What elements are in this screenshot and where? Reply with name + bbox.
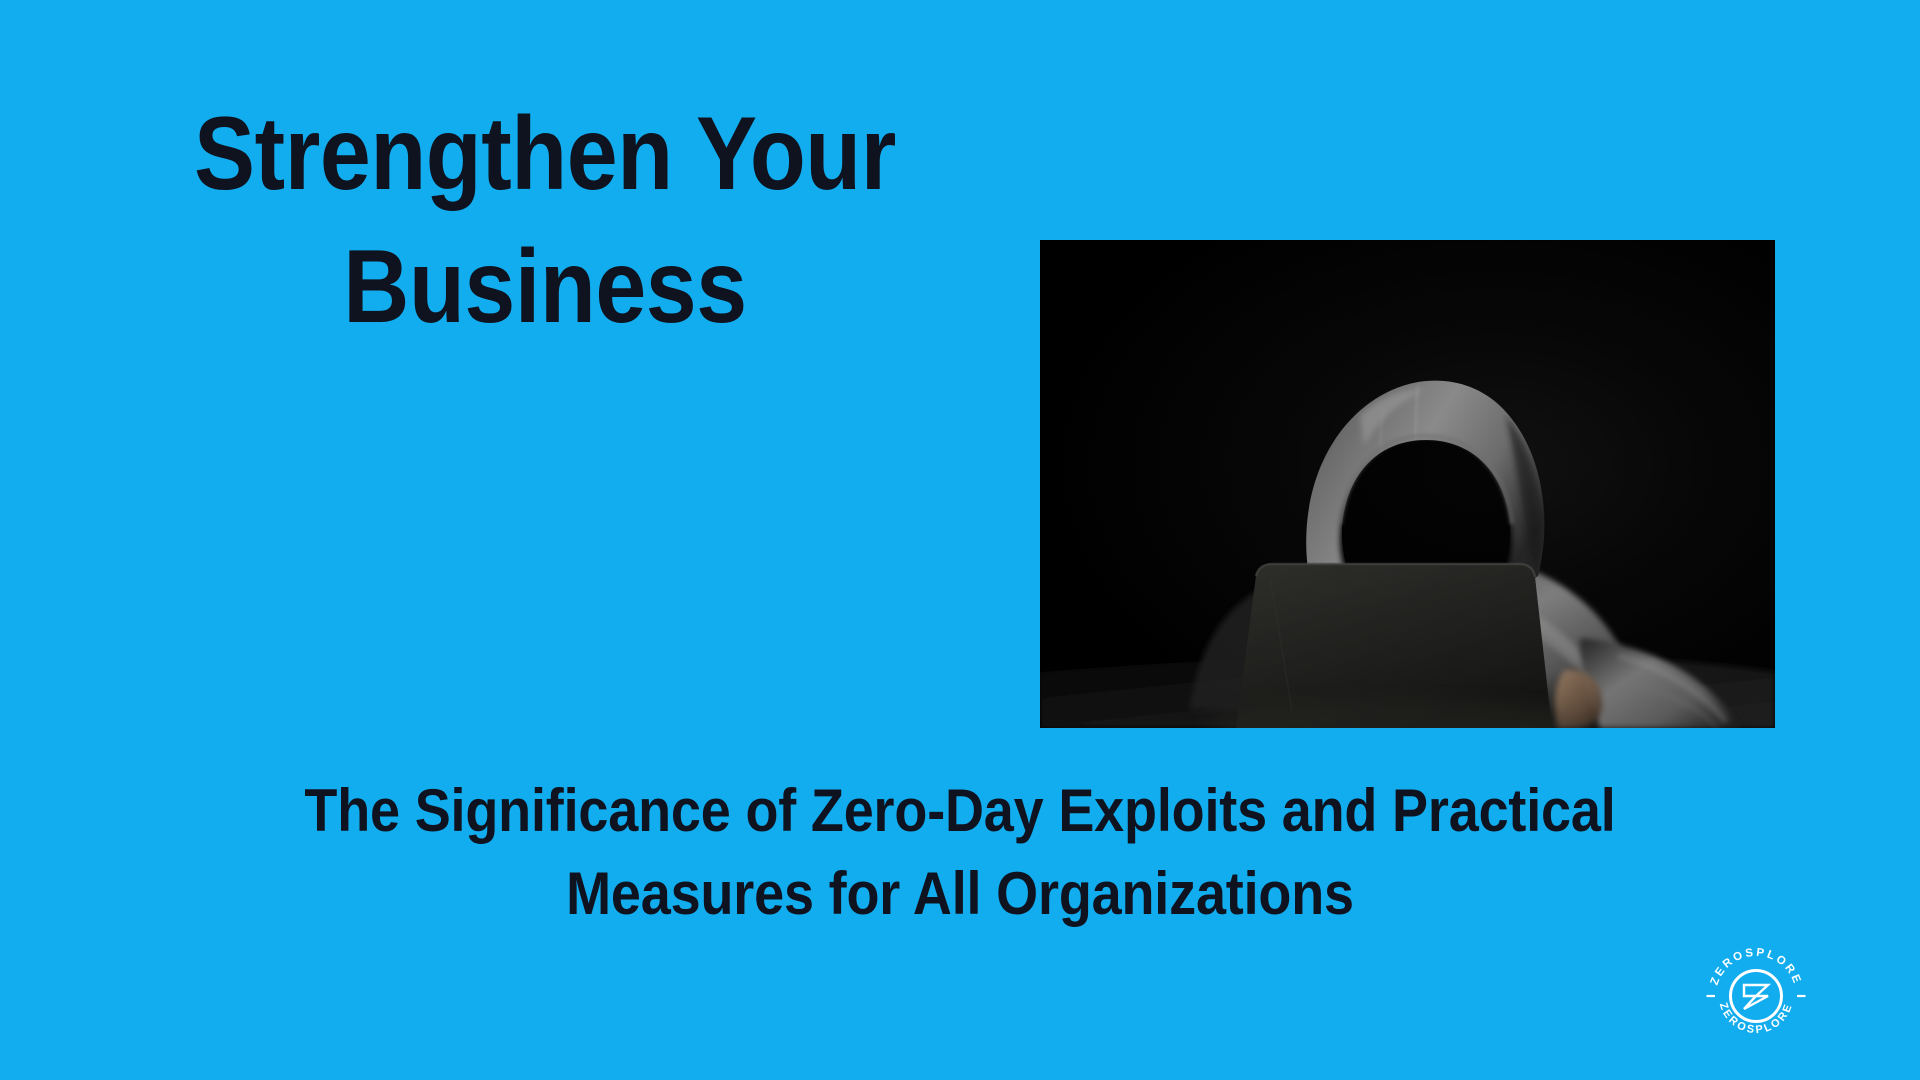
logo-z-arrow-icon — [1744, 985, 1768, 1009]
page-title: Strengthen Your Business — [70, 88, 1020, 354]
zerosplore-logo: ZEROSPLORE ZEROSPLORE — [1700, 940, 1812, 1052]
logo-brand-text-bottom: ZEROSPLORE — [1717, 1001, 1795, 1036]
subtitle: The Significance of Zero-Day Exploits an… — [60, 770, 1860, 936]
subtitle-line-2: Measures for All Organizations — [150, 853, 1770, 936]
slide-canvas: Strengthen Your Business — [0, 0, 1920, 1080]
hacker-photo-illustration — [1040, 240, 1775, 728]
title-line-2: Business — [127, 221, 963, 354]
hacker-photo — [1040, 240, 1775, 728]
subtitle-line-1: The Significance of Zero-Day Exploits an… — [150, 770, 1770, 853]
logo-brand-text-top: ZEROSPLORE — [1709, 947, 1804, 987]
zerosplore-logo-mark: ZEROSPLORE ZEROSPLORE — [1700, 940, 1812, 1052]
title-line-1: Strengthen Your — [127, 88, 963, 221]
